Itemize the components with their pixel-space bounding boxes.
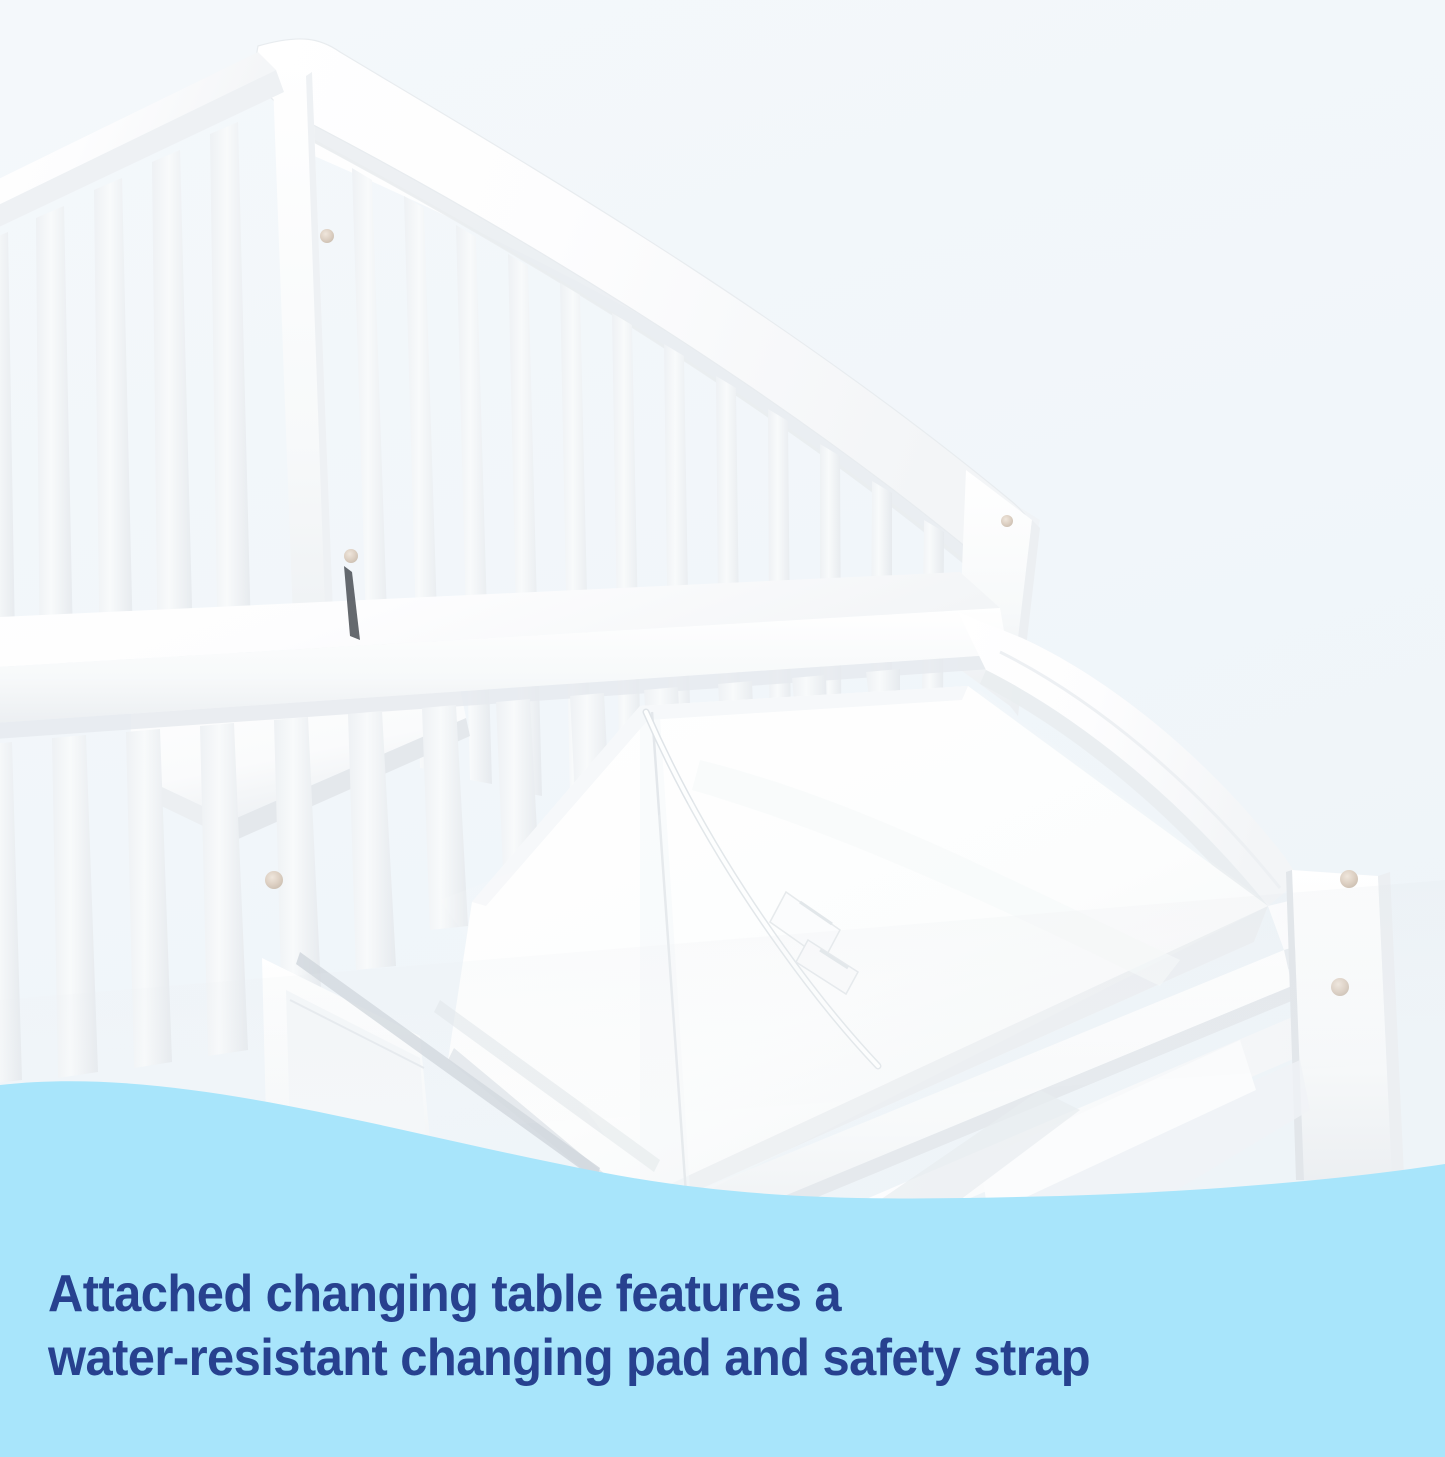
screw-cap xyxy=(1001,515,1013,527)
caption-line-1: Attached changing table features a xyxy=(48,1262,1308,1326)
screw-cap xyxy=(344,549,358,563)
caption-line-2: water-resistant changing pad and safety … xyxy=(48,1326,1308,1390)
caption-text-block: Attached changing table features a water… xyxy=(48,1262,1388,1390)
screw-cap xyxy=(320,229,334,243)
screw-cap xyxy=(1340,870,1358,888)
screw-cap xyxy=(265,871,283,889)
product-feature-image: Attached changing table features a water… xyxy=(0,0,1445,1457)
crib-product-photo xyxy=(0,0,1445,1457)
